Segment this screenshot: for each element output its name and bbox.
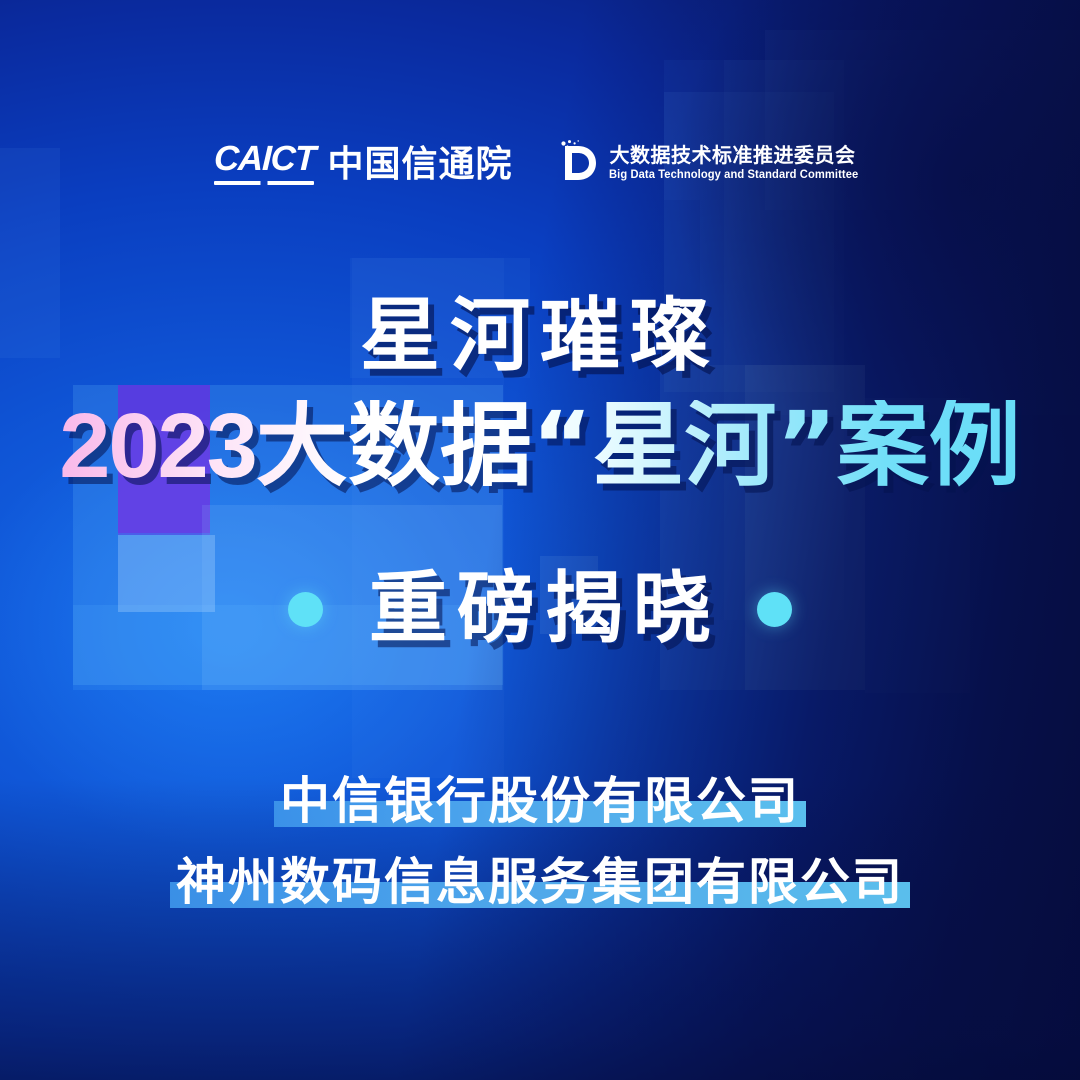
headline-line-3-row: 重磅揭晓 bbox=[0, 570, 1080, 648]
dot-icon-right bbox=[757, 592, 792, 627]
dot-icon-left bbox=[288, 592, 323, 627]
caict-wordmark-group: CAICT bbox=[214, 141, 315, 185]
stylized-d-sparkle-icon bbox=[556, 139, 598, 187]
headline-line-2-rest: 大数据“星河”案例 bbox=[256, 392, 1021, 499]
big-data-committee-logo: 大数据技术标准推进委员会 Big Data Technology and Sta… bbox=[556, 139, 866, 187]
committee-english-name: Big Data Technology and Standard Committ… bbox=[609, 169, 858, 181]
caict-chinese-name: 中国信通院 bbox=[327, 147, 512, 185]
headline-line-2: 2023大数据“星河”案例 bbox=[0, 400, 1080, 492]
caict-underline-mark bbox=[214, 181, 315, 185]
winners-list: 中信银行股份有限公司 神州数码信息服务集团有限公司 bbox=[0, 772, 1080, 912]
winner-item: 中信银行股份有限公司 bbox=[274, 772, 806, 831]
headline-line-3: 重磅揭晓 bbox=[359, 570, 721, 648]
poster-canvas: CAICT 中国信通院 大数据技术标准推进委员会 Big Data T bbox=[0, 0, 1080, 1080]
caict-logo: CAICT 中国信通院 bbox=[214, 141, 513, 185]
winner-item: 神州数码信息服务集团有限公司 bbox=[170, 853, 910, 912]
caict-wordmark: CAICT bbox=[213, 141, 315, 176]
committee-chinese-name: 大数据技术标准推进委员会 bbox=[609, 145, 866, 166]
headline-year: 2023 bbox=[59, 395, 256, 497]
winner-name: 神州数码信息服务集团有限公司 bbox=[176, 853, 904, 911]
big-data-committee-text: 大数据技术标准推进委员会 Big Data Technology and Sta… bbox=[609, 145, 866, 181]
logo-row: CAICT 中国信通院 大数据技术标准推进委员会 Big Data T bbox=[0, 139, 1080, 187]
headline-line-1: 星河璀璨 bbox=[0, 296, 1080, 376]
winner-name: 中信银行股份有限公司 bbox=[280, 772, 800, 830]
